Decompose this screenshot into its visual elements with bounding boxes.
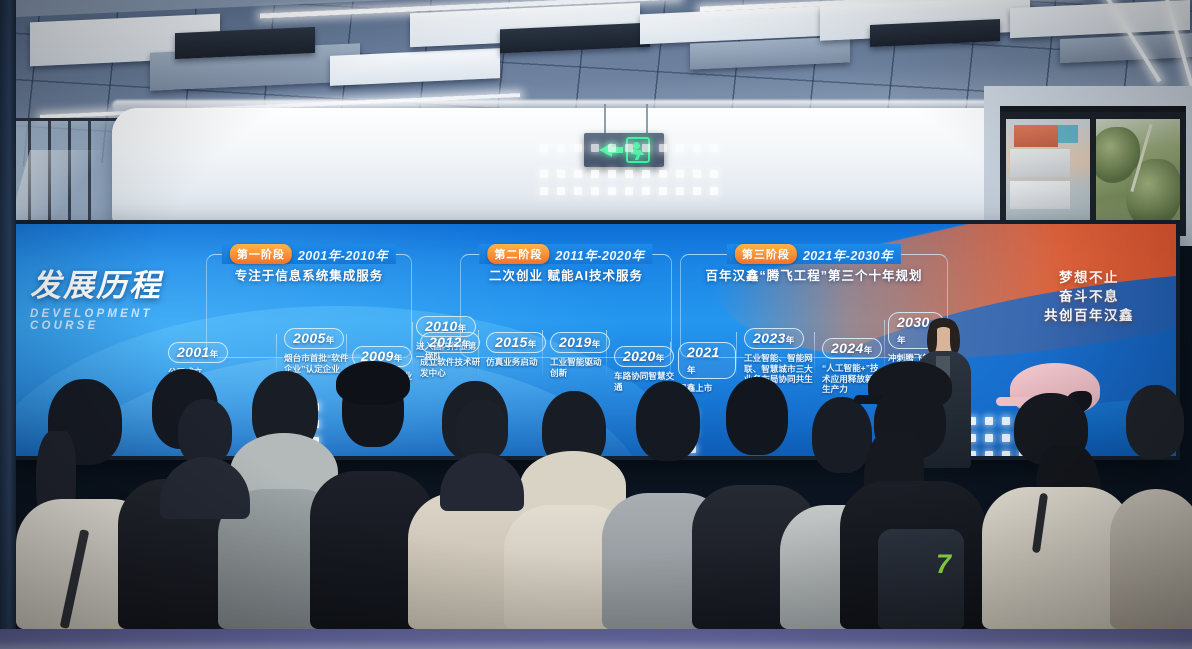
slide-title-cn: 发展历程 [30, 260, 200, 305]
person-torso [1110, 489, 1192, 629]
white-curved-wall [112, 108, 1112, 226]
exterior-tree [1126, 159, 1180, 229]
phase-subtitle: 专注于信息系统集成服务 [235, 265, 384, 284]
person-cap [336, 361, 410, 405]
room-pillar [0, 0, 16, 630]
exterior-window [1000, 112, 1186, 236]
led-dot-cluster [540, 170, 718, 195]
audience-group: 7 [0, 329, 1192, 629]
person-head [178, 399, 232, 465]
bottom-color-bar [0, 629, 1192, 649]
phase-subtitle: 二次创业 赋能AI技术服务 [489, 265, 643, 284]
glass-reflection [10, 150, 126, 220]
audience-person-back [160, 399, 250, 519]
person-head [1126, 385, 1184, 459]
backpack [878, 529, 964, 629]
window-pane-right [1096, 119, 1180, 236]
slogan-line-3: 共创百年汉鑫 [1044, 306, 1134, 325]
phase-header-3: 第三阶段 2021年-2030年 [727, 244, 901, 264]
screenshot-root: 发展历程 DEVELOPMENT COURSE 第一阶段 2001年-2010年… [0, 0, 1192, 649]
phase-badge: 第一阶段 [230, 244, 292, 264]
phase-subtitle: 百年汉鑫“腾飞工程”第三个十年规划 [705, 265, 922, 284]
slogan-line-1: 梦想不止 [1044, 268, 1134, 287]
exterior-building [1010, 149, 1070, 177]
backpack-graphic: 7 [936, 549, 956, 579]
person-head [636, 381, 700, 461]
window-pane-left [1006, 119, 1090, 236]
sign-hanger-rod [646, 104, 648, 136]
audience-person-back [440, 399, 524, 511]
exterior-building [1058, 125, 1078, 143]
phase-years: 2021年-2030年 [803, 245, 893, 264]
phase-header-2: 第二阶段 2011年-2020年 [479, 244, 652, 264]
phase-badge: 第二阶段 [487, 244, 549, 264]
person-torso [160, 457, 250, 519]
phase-years: 2011年-2020年 [555, 245, 644, 264]
led-dot-cluster [540, 144, 718, 152]
exterior-building [1014, 125, 1058, 147]
sign-hanger-rod [604, 104, 606, 136]
slogan-line-2: 奋斗不息 [1044, 287, 1134, 306]
phase-years: 2001年-2010年 [298, 245, 388, 264]
person-torso [440, 453, 524, 511]
exterior-building [1010, 181, 1070, 209]
audience-person: 7 [840, 361, 990, 629]
slide-slogan: 梦想不止 奋斗不息 共创百年汉鑫 [1044, 268, 1134, 325]
audience-person [1110, 379, 1192, 629]
phase-header-1: 第一阶段 2001年-2010年 [222, 244, 396, 264]
phase-badge: 第三阶段 [735, 244, 797, 264]
slide-title-block: 发展历程 DEVELOPMENT COURSE [30, 260, 200, 332]
person-head [456, 399, 508, 461]
